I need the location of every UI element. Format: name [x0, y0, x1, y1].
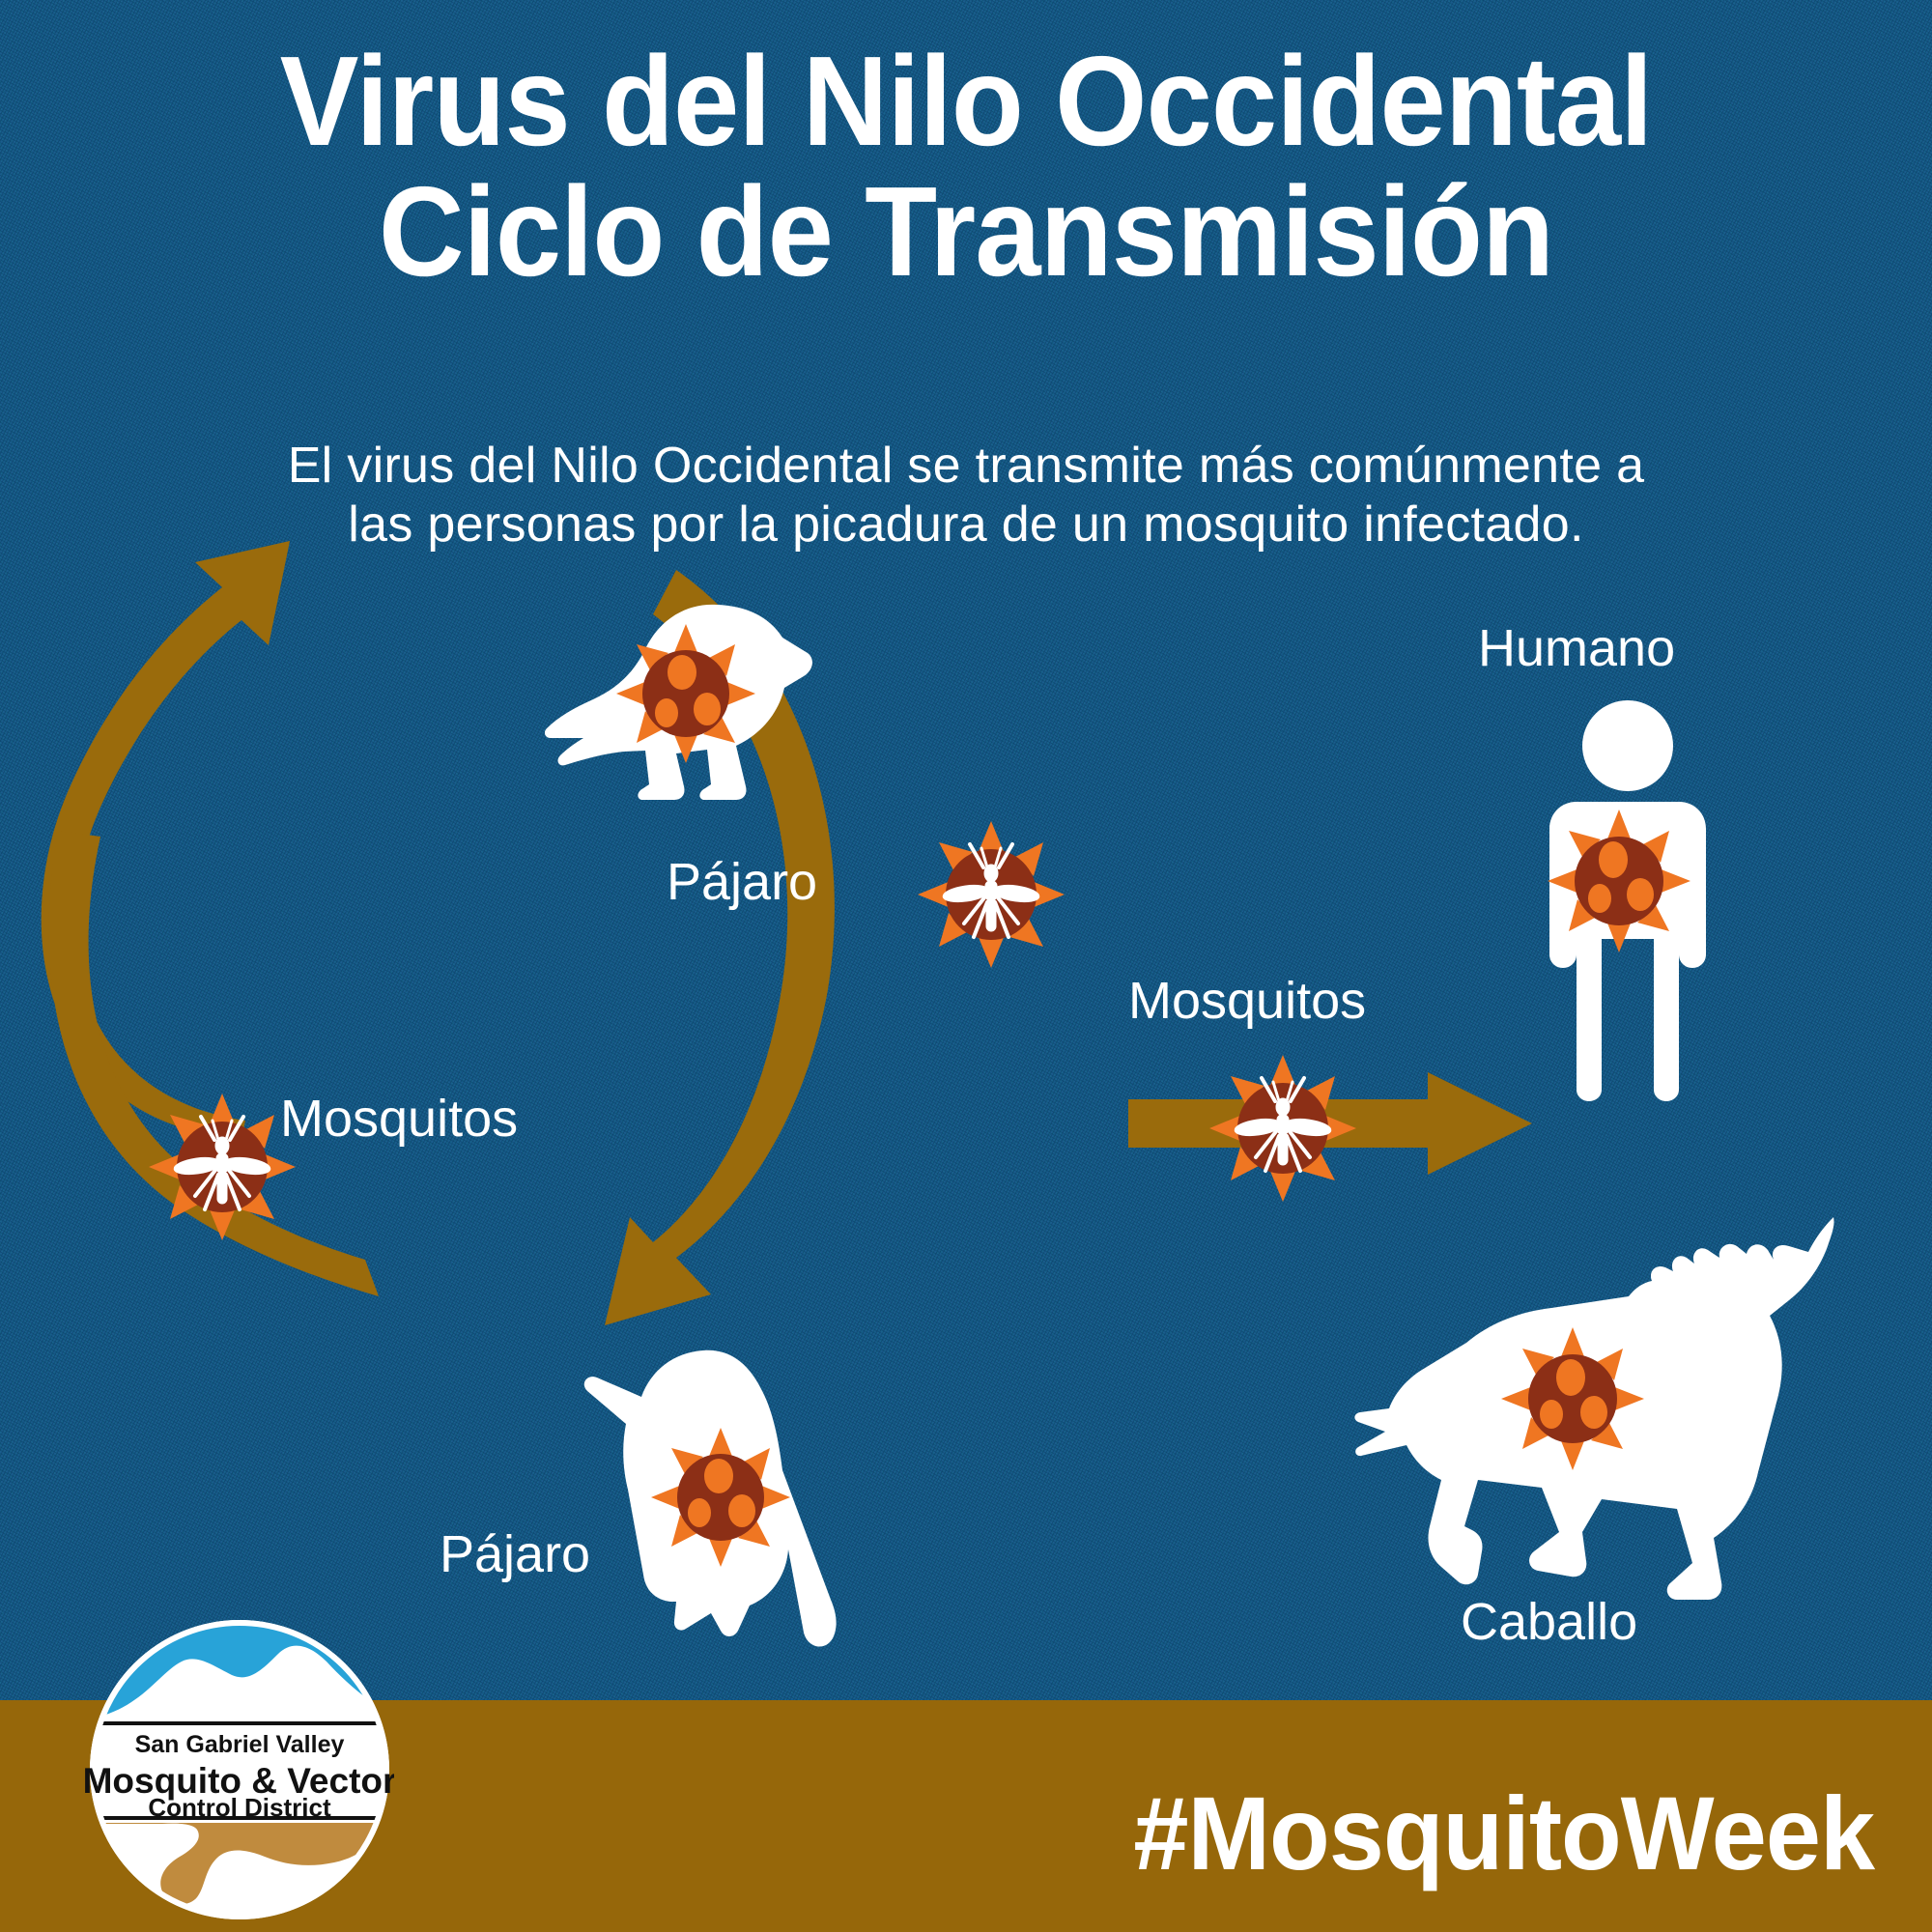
title-line-2: Ciclo de Transmisión [68, 167, 1864, 298]
title-line-1: Virus del Nilo Occidental [68, 37, 1864, 167]
human-label: Humano [1478, 618, 1675, 678]
human-icon [1517, 696, 1739, 1101]
bird-icon [541, 599, 831, 850]
horse-icon [1352, 1207, 1893, 1623]
mosquito-right-label: Mosquitos [1128, 971, 1366, 1031]
horse-label: Caballo [1461, 1592, 1637, 1652]
bird-bottom-label: Pájaro [440, 1524, 590, 1584]
infographic-poster: Virus del Nilo Occidental Ciclo de Trans… [0, 0, 1932, 1932]
virus-icon [616, 624, 755, 763]
subtitle: El virus del Nilo Occidental se transmit… [97, 437, 1835, 555]
hashtag: #MosquitoWeek [1133, 1773, 1874, 1893]
mosquito-virus-icon [145, 1090, 299, 1244]
virus-icon [651, 1428, 790, 1567]
mosquito-left-label: Mosquitos [280, 1089, 518, 1149]
bird-icon [580, 1343, 860, 1652]
subtitle-line-1: El virus del Nilo Occidental se transmit… [97, 437, 1835, 496]
bird-top-label: Pájaro [667, 852, 817, 912]
virus-icon [1501, 1327, 1644, 1470]
virus-icon [1548, 810, 1690, 952]
logo: San Gabriel Valley Mosquito & Vector Con… [85, 1615, 394, 1924]
mosquito-virus-icon [914, 817, 1068, 972]
subtitle-line-2: las personas por la picadura de un mosqu… [97, 496, 1835, 554]
page-title: Virus del Nilo Occidental Ciclo de Trans… [0, 37, 1932, 297]
mosquito-virus-icon [1206, 1051, 1360, 1206]
logo-line-1: San Gabriel Valley [135, 1731, 345, 1758]
logo-line-3: Control District [148, 1793, 331, 1822]
